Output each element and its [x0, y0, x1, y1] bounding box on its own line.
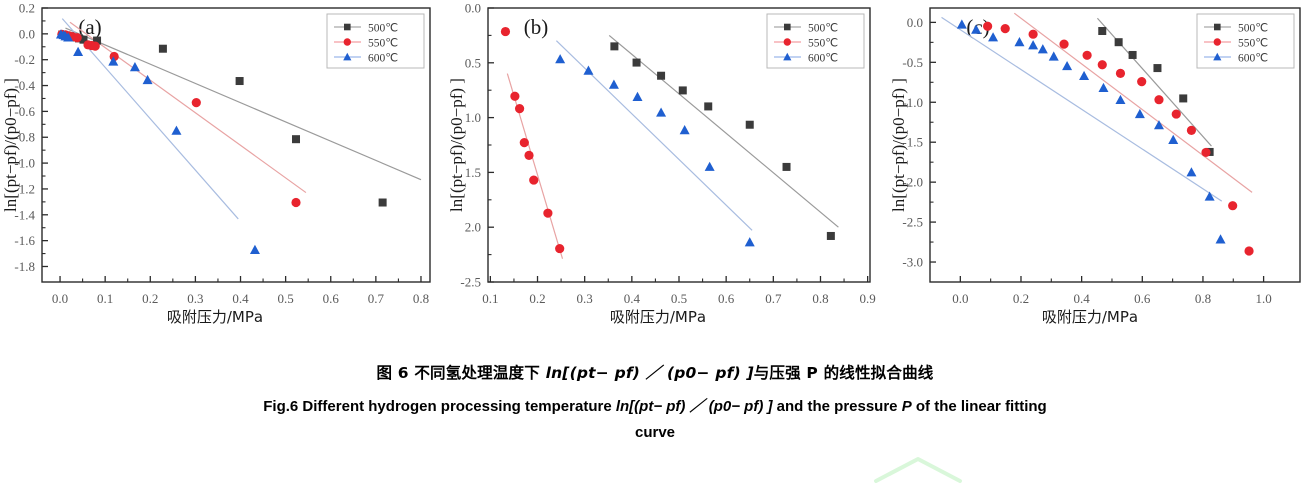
- data-point-circle: [543, 209, 552, 218]
- data-point-circle: [1244, 246, 1253, 255]
- data-point-square: [1129, 51, 1137, 59]
- x-tick-label: 0.4: [624, 291, 641, 306]
- legend-marker-circle: [784, 38, 791, 45]
- y-tick-label: -0.2: [14, 52, 35, 67]
- caption-english-line1: Fig.6 Different hydrogen processing temp…: [0, 394, 1310, 420]
- y-tick-label: 0.0: [19, 26, 35, 41]
- legend-marker-square: [784, 24, 791, 31]
- data-point-circle: [1098, 60, 1107, 69]
- y-tick-label: -0.5: [902, 55, 923, 70]
- data-point-circle: [501, 27, 510, 36]
- x-tick-label: 0.8: [413, 291, 429, 306]
- data-point-triangle: [1062, 61, 1072, 70]
- data-point-square: [783, 163, 791, 171]
- data-point-square: [1115, 38, 1123, 46]
- data-point-circle: [510, 92, 519, 101]
- data-point-circle: [524, 151, 533, 160]
- y-tick-label: 1.0: [465, 110, 481, 125]
- caption-cn-suffix: 与压强 P 的线性拟合曲线: [754, 364, 934, 382]
- x-tick-label: 0.6: [323, 291, 340, 306]
- data-point-triangle: [1049, 51, 1059, 60]
- data-point-circle: [1082, 51, 1091, 60]
- data-point-circle: [1029, 30, 1038, 39]
- data-point-square: [679, 86, 687, 94]
- caption-en-suffix: of the linear fitting: [912, 398, 1047, 415]
- data-point-circle: [1116, 69, 1125, 78]
- chart-panel-b: 0.10.20.30.40.50.60.70.80.90.00.51.01.52…: [440, 0, 882, 345]
- data-point-triangle: [1028, 40, 1038, 49]
- y-tick-label: 1.5: [465, 165, 481, 180]
- y-tick-label: 0.5: [465, 55, 481, 70]
- data-point-circle: [1001, 24, 1010, 33]
- x-axis-title: 吸附压力/MPa: [610, 308, 706, 326]
- y-axis-title: ln[(pt−pf)/(p0−pf) ]: [889, 78, 908, 212]
- y-tick-label: 0.0: [465, 1, 481, 16]
- data-point-triangle: [656, 107, 666, 116]
- data-point-triangle: [583, 65, 593, 74]
- legend-label: 600℃: [368, 52, 398, 64]
- x-tick-label: 0.0: [952, 291, 968, 306]
- legend: 500℃550℃600℃: [767, 14, 864, 68]
- data-point-triangle: [73, 47, 83, 56]
- data-point-triangle: [957, 19, 967, 28]
- y-tick-label: 0.2: [19, 1, 35, 16]
- plot-svg-a: 0.00.10.20.30.40.50.60.70.80.20.0-0.2-0.…: [0, 0, 440, 345]
- data-point-square: [1098, 27, 1106, 35]
- data-point-square: [746, 121, 754, 129]
- y-axis-title: ln[(pt−pf)/(p0−pf) ]: [1, 78, 20, 212]
- data-point-square: [236, 77, 244, 85]
- data-point-triangle: [1079, 71, 1089, 80]
- x-tick-label: 0.3: [577, 291, 593, 306]
- legend-label: 550℃: [368, 37, 398, 49]
- x-tick-label: 0.7: [368, 291, 385, 306]
- y-tick-label: 2.0: [465, 220, 481, 235]
- x-tick-label: 0.7: [765, 291, 782, 306]
- data-point-circle: [291, 198, 300, 207]
- data-point-circle: [192, 98, 201, 107]
- data-point-circle: [1137, 77, 1146, 86]
- data-point-triangle: [632, 92, 642, 101]
- panels-row: 0.00.10.20.30.40.50.60.70.80.20.0-0.2-0.…: [0, 0, 1310, 345]
- data-point-triangle: [1014, 37, 1024, 46]
- data-point-triangle: [1098, 83, 1108, 92]
- x-tick-label: 0.8: [1195, 291, 1211, 306]
- y-tick-label: -1.8: [14, 259, 35, 274]
- legend-label: 600℃: [808, 52, 838, 64]
- y-axis-title: ln[(pt−pf)/(p0−pf) ]: [447, 78, 466, 212]
- x-tick-label: 0.3: [187, 291, 203, 306]
- legend-label: 550℃: [1238, 37, 1268, 49]
- data-point-square: [827, 232, 835, 240]
- legend-marker-circle: [1214, 38, 1221, 45]
- legend-marker-circle: [344, 38, 351, 45]
- data-point-triangle: [680, 125, 690, 134]
- legend: 500℃550℃600℃: [1197, 14, 1294, 68]
- caption-en-mid: and the pressure: [772, 398, 901, 415]
- data-point-triangle: [171, 126, 181, 135]
- figure-container: 0.00.10.20.30.40.50.60.70.80.20.0-0.2-0.…: [0, 0, 1310, 487]
- x-tick-label: 1.0: [1255, 291, 1271, 306]
- x-tick-label: 0.4: [232, 291, 249, 306]
- caption-english-line2: curve: [0, 420, 1310, 446]
- x-tick-label: 0.8: [812, 291, 828, 306]
- data-point-square: [633, 59, 641, 67]
- caption-chinese: 图 6 不同氢处理温度下 ln[(pt− pf) ／ (p0− pf) ]与压强…: [0, 360, 1310, 386]
- x-tick-label: 0.0: [52, 291, 68, 306]
- data-point-square: [610, 42, 618, 50]
- data-point-triangle: [609, 80, 619, 89]
- x-tick-label: 0.2: [142, 291, 158, 306]
- panel-label: (b): [524, 15, 549, 39]
- x-tick-label: 0.1: [482, 291, 498, 306]
- chart-panel-c: 0.00.20.40.60.81.00.0-0.5-1.0-1.5-2.0-2.…: [882, 0, 1310, 345]
- data-point-circle: [1228, 201, 1237, 210]
- fit-line: [942, 17, 1222, 201]
- data-point-circle: [983, 22, 992, 31]
- data-point-triangle: [555, 54, 565, 63]
- data-point-circle: [73, 33, 82, 42]
- caption-en-formula: ln[(pt− pf) ／ (p0− pf) ]: [616, 398, 773, 415]
- legend-marker-square: [1214, 24, 1221, 31]
- caption-cn-formula: ln[(pt− pf) ／ (p0− pf) ]: [546, 364, 754, 382]
- x-tick-label: 0.6: [718, 291, 735, 306]
- x-tick-label: 0.5: [671, 291, 687, 306]
- y-tick-label: -2.5: [460, 275, 481, 290]
- data-point-square: [292, 135, 300, 143]
- chevron-watermark-icon: [868, 455, 968, 485]
- caption-en-variable-p: P: [902, 398, 912, 415]
- x-axis-title: 吸附压力/MPa: [167, 308, 263, 326]
- data-point-circle: [515, 104, 524, 113]
- data-point-square: [1179, 94, 1187, 102]
- x-axis-title: 吸附压力/MPa: [1042, 308, 1138, 326]
- data-point-circle: [529, 175, 538, 184]
- fit-line: [70, 22, 306, 192]
- data-point-square: [704, 102, 712, 110]
- x-tick-label: 0.4: [1074, 291, 1091, 306]
- caption-cn-prefix: 图 6 不同氢处理温度下: [376, 364, 545, 382]
- plot-svg-b: 0.10.20.30.40.50.60.70.80.90.00.51.01.52…: [440, 0, 882, 345]
- figure-caption-block: 图 6 不同氢处理温度下 ln[(pt− pf) ／ (p0− pf) ]与压强…: [0, 360, 1310, 446]
- data-point-triangle: [1216, 234, 1226, 243]
- data-point-square: [159, 45, 167, 53]
- legend-label: 600℃: [1238, 52, 1268, 64]
- caption-en-prefix: Fig.6 Different hydrogen processing temp…: [263, 398, 616, 415]
- data-point-triangle: [1186, 167, 1196, 176]
- data-point-circle: [1154, 95, 1163, 104]
- data-point-triangle: [250, 245, 260, 254]
- data-point-circle: [1059, 40, 1068, 49]
- data-point-triangle: [745, 237, 755, 246]
- data-point-circle: [1187, 126, 1196, 135]
- data-point-circle: [1172, 109, 1181, 118]
- fit-line: [507, 74, 562, 259]
- x-tick-label: 0.1: [97, 291, 113, 306]
- x-tick-label: 0.6: [1134, 291, 1151, 306]
- legend-marker-square: [344, 24, 351, 31]
- legend-label: 500℃: [808, 22, 838, 34]
- data-point-triangle: [1038, 44, 1048, 53]
- plot-svg-c: 0.00.20.40.60.81.00.0-0.5-1.0-1.5-2.0-2.…: [882, 0, 1310, 345]
- x-tick-label: 0.9: [860, 291, 876, 306]
- chart-panel-a: 0.00.10.20.30.40.50.60.70.80.20.0-0.2-0.…: [0, 0, 440, 345]
- data-point-square: [1153, 64, 1161, 72]
- data-point-circle: [520, 138, 529, 147]
- y-tick-label: -1.6: [14, 233, 35, 248]
- y-tick-label: 0.0: [907, 15, 923, 30]
- fit-line: [556, 41, 752, 231]
- y-tick-label: -3.0: [902, 255, 923, 270]
- x-tick-label: 0.5: [278, 291, 294, 306]
- data-point-circle: [555, 244, 564, 253]
- data-point-circle: [1201, 148, 1210, 157]
- legend-label: 550℃: [808, 37, 838, 49]
- data-point-triangle: [705, 162, 715, 171]
- data-point-square: [657, 72, 665, 80]
- legend-label: 500℃: [1238, 22, 1268, 34]
- data-point-square: [379, 199, 387, 207]
- legend-label: 500℃: [368, 22, 398, 34]
- y-tick-label: -2.5: [902, 215, 923, 230]
- x-tick-label: 0.2: [529, 291, 545, 306]
- legend: 500℃550℃600℃: [327, 14, 424, 68]
- data-point-circle: [91, 42, 100, 51]
- x-tick-label: 0.2: [1013, 291, 1029, 306]
